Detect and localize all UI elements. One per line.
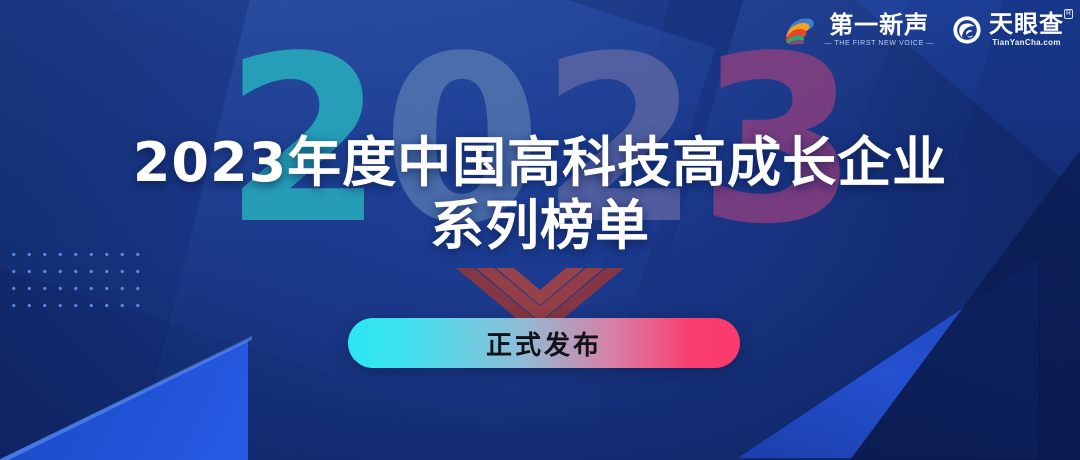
logo-tianyancha-domain: TianYanCha.com — [992, 38, 1061, 47]
banner-title: 2023年度中国高科技高成长企业 系列榜单 — [0, 132, 1080, 257]
swirl-ribbon-logo-icon — [783, 13, 817, 47]
title-line-1: 2023年度中国高科技高成长企业 — [0, 132, 1080, 195]
logo-diyi-xinsheng-name: 第一新声 — [829, 13, 929, 37]
title-line-2: 系列榜单 — [0, 195, 1080, 258]
logo-group: 第一新声 — THE FIRST NEW VOICE — 天眼查 TianYan… — [783, 12, 1064, 47]
logo-tianyancha[interactable]: 天眼查 TianYanCha.com R — [952, 12, 1064, 47]
logo-diyi-xinsheng-text: 第一新声 — THE FIRST NEW VOICE — — [824, 13, 934, 47]
publish-cta-label: 正式发布 — [486, 325, 602, 362]
logo-diyi-xinsheng[interactable]: 第一新声 — THE FIRST NEW VOICE — — [783, 13, 934, 47]
aperture-eye-logo-icon — [952, 15, 982, 45]
logo-tianyancha-text: 天眼查 TianYanCha.com R — [989, 12, 1064, 47]
publish-cta-button[interactable]: 正式发布 — [348, 318, 740, 368]
registered-trademark-icon: R — [1064, 9, 1073, 19]
logo-tianyancha-name: 天眼查 — [989, 12, 1064, 36]
promo-banner: 2 0 2 3 2023年度中国高科技高成长企业 系列榜单 正式发布 — [0, 0, 1080, 460]
logo-diyi-xinsheng-tagline: — THE FIRST NEW VOICE — — [824, 40, 934, 47]
